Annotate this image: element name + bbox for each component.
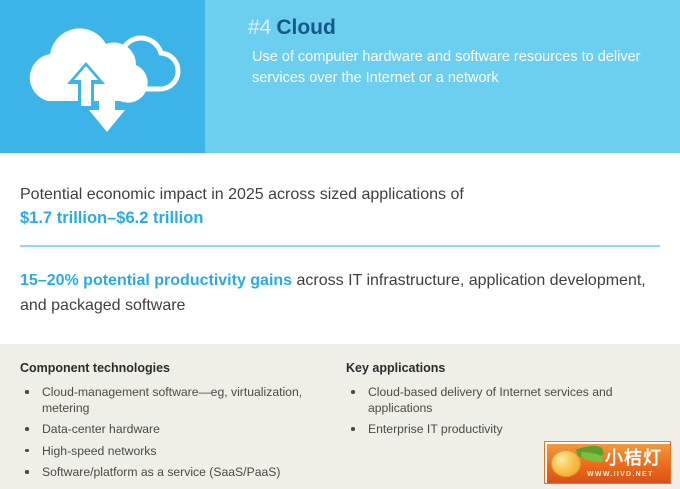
- list-item-label: Cloud-management software—eg, virtualiza…: [42, 385, 302, 415]
- header-text-panel: #4Cloud Use of computer hardware and sof…: [205, 0, 680, 153]
- item-title: Cloud: [276, 16, 335, 39]
- bullet-icon: [351, 390, 355, 394]
- list-item: Software/platform as a service (SaaS/Paa…: [20, 465, 332, 481]
- productivity-highlight: 15–20% potential productivity gains: [20, 272, 292, 289]
- component-technologies-list: Cloud-management software—eg, virtualiza…: [20, 385, 332, 481]
- key-applications-list: Cloud-based delivery of Internet service…: [346, 385, 658, 438]
- watermark-brand: 小桔灯: [605, 449, 662, 469]
- list-item-label: High-speed networks: [42, 444, 156, 458]
- key-applications-column: Key applications Cloud-based delivery of…: [346, 361, 658, 444]
- productivity-statement: 15–20% potential productivity gains acro…: [20, 268, 665, 318]
- economic-impact-section: Potential economic impact in 2025 across…: [0, 153, 680, 344]
- list-item-label: Data-center hardware: [42, 422, 160, 436]
- list-item: Data-center hardware: [20, 422, 332, 438]
- list-item: High-speed networks: [20, 444, 332, 460]
- column-heading: Component technologies: [20, 361, 332, 376]
- list-item-label: Enterprise IT productivity: [368, 422, 503, 436]
- header-description: Use of computer hardware and software re…: [252, 47, 652, 89]
- section-divider: [20, 245, 660, 247]
- list-item-label: Cloud-based delivery of Internet service…: [368, 385, 613, 415]
- page-title: #4Cloud: [248, 16, 336, 40]
- list-item: Cloud-management software—eg, virtualiza…: [20, 385, 332, 416]
- list-item: Enterprise IT productivity: [346, 422, 658, 438]
- bullet-icon: [25, 470, 29, 474]
- watermark-background: 小桔灯 WWW.IIVD.NET: [547, 444, 670, 483]
- cloud-sync-icon: [14, 18, 194, 138]
- impact-lead-text: Potential economic impact in 2025 across…: [20, 184, 464, 206]
- bullet-icon: [25, 390, 29, 394]
- header-icon-panel: [0, 0, 205, 153]
- item-number: #4: [248, 16, 271, 39]
- impact-value-range: $1.7 trillion–$6.2 trillion: [20, 207, 203, 229]
- watermark-logo: 小桔灯 WWW.IIVD.NET: [544, 441, 671, 484]
- component-technologies-column: Component technologies Cloud-management …: [20, 361, 332, 487]
- column-heading: Key applications: [346, 361, 658, 376]
- list-item-label: Software/platform as a service (SaaS/Paa…: [42, 465, 280, 479]
- bullet-icon: [25, 427, 29, 431]
- watermark-url: WWW.IIVD.NET: [587, 471, 654, 478]
- bullet-icon: [25, 449, 29, 453]
- list-item: Cloud-based delivery of Internet service…: [346, 385, 658, 416]
- header-banner: #4Cloud Use of computer hardware and sof…: [0, 0, 680, 153]
- bullet-icon: [351, 427, 355, 431]
